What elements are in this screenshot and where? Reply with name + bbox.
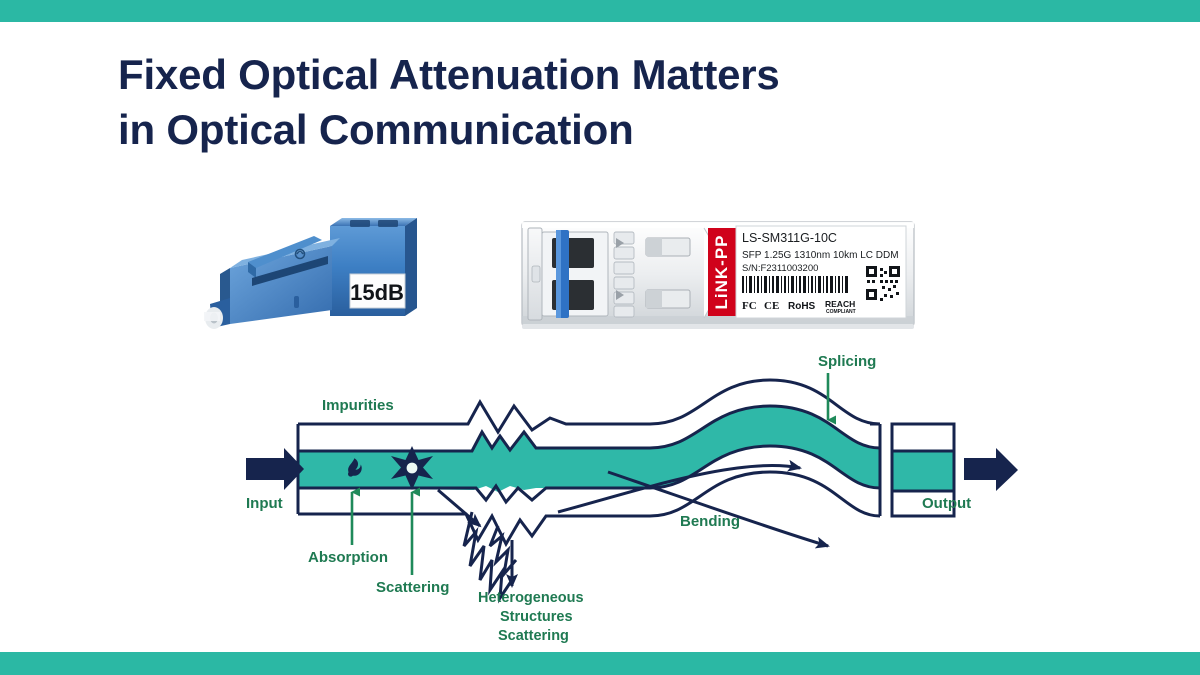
page-title: Fixed Optical Attenuation Matters in Opt… [118,48,978,157]
scattering-label: Scattering [376,579,449,596]
sfp-module-image: LiNK-PP LS-SM311G-10C SFP 1.25G 1310nm 1… [518,208,918,338]
splicing-label: Splicing [818,353,876,370]
top-accent-bar [0,0,1200,22]
absorption-label: Absorption [308,549,388,566]
bending-ray-2 [608,472,828,546]
fiber-attenuation-diagram: Input Output [180,340,1020,650]
poster-canvas: Fixed Optical Attenuation Matters in Opt… [0,0,1200,675]
input-arrow-icon [246,448,304,490]
sfp-part-number: LS-SM311G-10C [742,231,837,245]
cert-ce-mark: CE [764,300,779,312]
cert-rohs-mark: RoHS [788,301,816,312]
bottom-accent-bar [0,652,1200,675]
page-title-line1: Fixed Optical Attenuation Matters [118,51,780,98]
cert-reach-mark: REACH [825,299,855,309]
attenuator-value-text: 15dB [350,280,404,305]
bending-label: Bending [680,513,740,530]
sfp-serial: S/N:F2311003200 [742,263,818,274]
page-title-line2: in Optical Communication [118,103,978,158]
input-label: Input [246,495,283,512]
lc-attenuator-image: 15dB [190,212,440,340]
sfp-label: LS-SM311G-10C SFP 1.25G 1310nm 10km LC D… [736,226,906,318]
sfp-brand-text: LiNK-PP [712,235,731,310]
attenuator-plug [204,236,340,329]
sfp-qr-code [866,266,900,301]
output-label: Output [922,495,971,512]
heterogeneous-arrow-2 [438,490,480,526]
sfp-brand-strip: LiNK-PP [708,228,736,316]
sfp-cage [528,228,608,320]
heterogeneous-label-line3: Scattering [498,628,569,644]
attenuator-body: 15dB [330,218,417,316]
sfp-spec: SFP 1.25G 1310nm 10km LC DDM [742,250,899,261]
output-arrow-icon [964,448,1018,491]
heterogeneous-label-line1: Heterogeneous [478,590,584,606]
impurities-label: Impurities [322,397,394,414]
cert-fcc-mark: FC [742,300,757,312]
cert-reach-sub: COMPLIANT [826,309,856,315]
heterogeneous-label-line2: Structures [500,609,573,625]
